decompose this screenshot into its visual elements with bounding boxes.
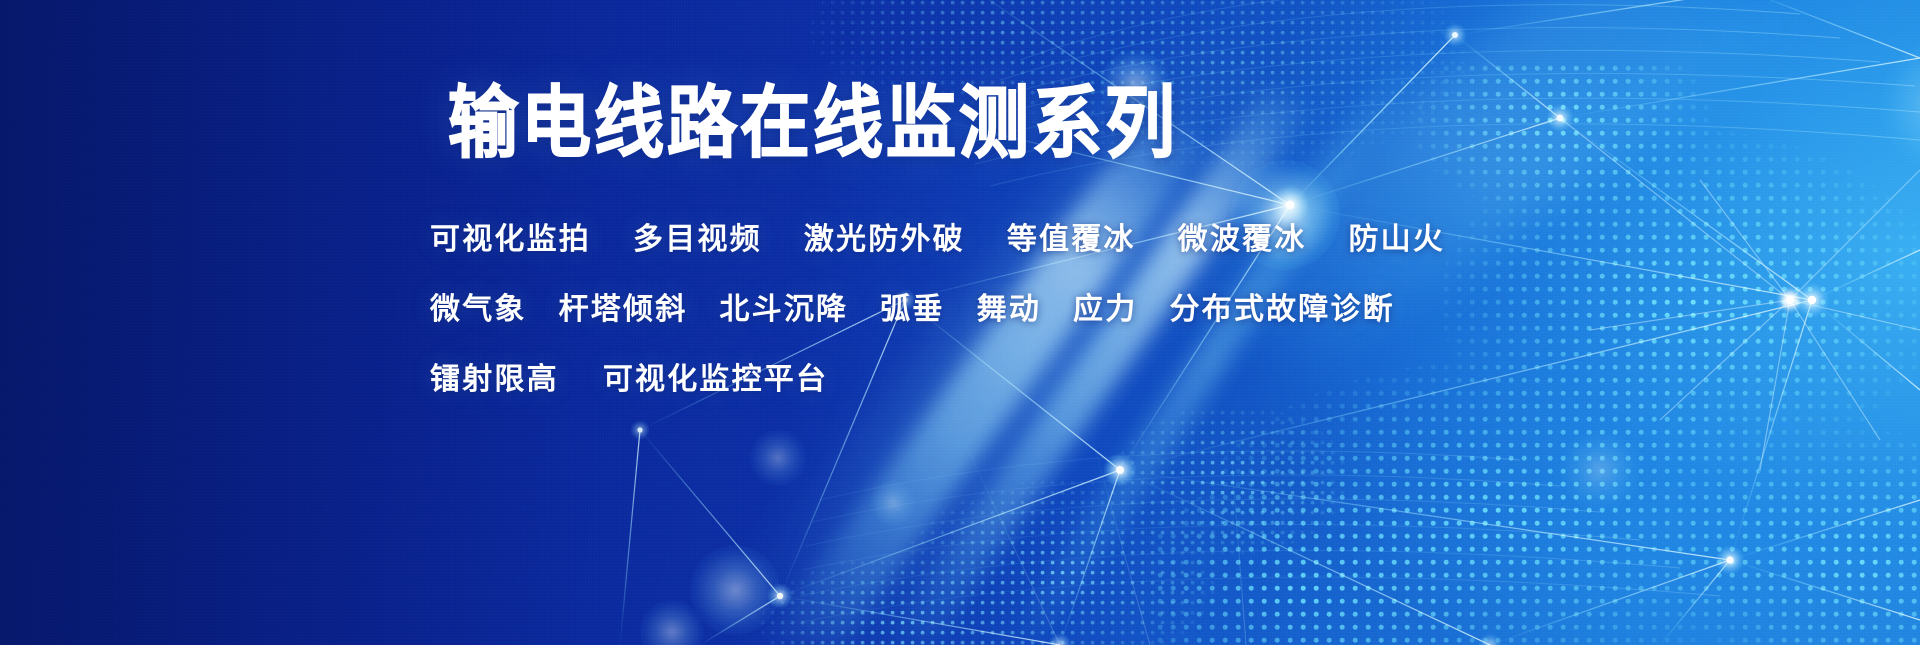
feature-tag-list: 可视化监拍 多目视频 激光防外破 等值覆冰 微波覆冰 防山火 微气象 杆塔倾斜 … xyxy=(430,205,1430,415)
feature-tag[interactable]: 微气象 xyxy=(430,295,527,325)
feature-tag[interactable]: 镭射限高 xyxy=(430,365,559,395)
feature-tag[interactable]: 舞动 xyxy=(977,295,1041,325)
feature-tag[interactable]: 等值覆冰 xyxy=(1007,225,1136,255)
feature-tag[interactable]: 可视化监拍 xyxy=(430,225,591,255)
feature-tag[interactable]: 多目视频 xyxy=(633,225,762,255)
feature-row: 可视化监拍 多目视频 激光防外破 等值覆冰 微波覆冰 防山火 xyxy=(430,205,1430,275)
feature-row: 微气象 杆塔倾斜 北斗沉降 弧垂 舞动 应力 分布式故障诊断 xyxy=(430,275,1430,345)
feature-tag[interactable]: 微波覆冰 xyxy=(1178,225,1307,255)
banner-title: 输电线路在线监测系列 xyxy=(448,84,1178,162)
feature-tag[interactable]: 可视化监控平台 xyxy=(603,365,828,395)
feature-tag[interactable]: 杆塔倾斜 xyxy=(559,295,688,325)
feature-tag[interactable]: 弧垂 xyxy=(880,295,944,325)
feature-row: 镭射限高 可视化监控平台 xyxy=(430,345,1430,415)
hero-banner: 输电线路在线监测系列 可视化监拍 多目视频 激光防外破 等值覆冰 微波覆冰 防山… xyxy=(0,0,1920,645)
banner-content: 输电线路在线监测系列 可视化监拍 多目视频 激光防外破 等值覆冰 微波覆冰 防山… xyxy=(430,0,1890,645)
feature-tag[interactable]: 防山火 xyxy=(1348,225,1445,255)
feature-tag[interactable]: 激光防外破 xyxy=(804,225,965,255)
feature-tag[interactable]: 北斗沉降 xyxy=(719,295,848,325)
feature-tag[interactable]: 分布式故障诊断 xyxy=(1169,295,1394,325)
feature-tag[interactable]: 应力 xyxy=(1073,295,1137,325)
